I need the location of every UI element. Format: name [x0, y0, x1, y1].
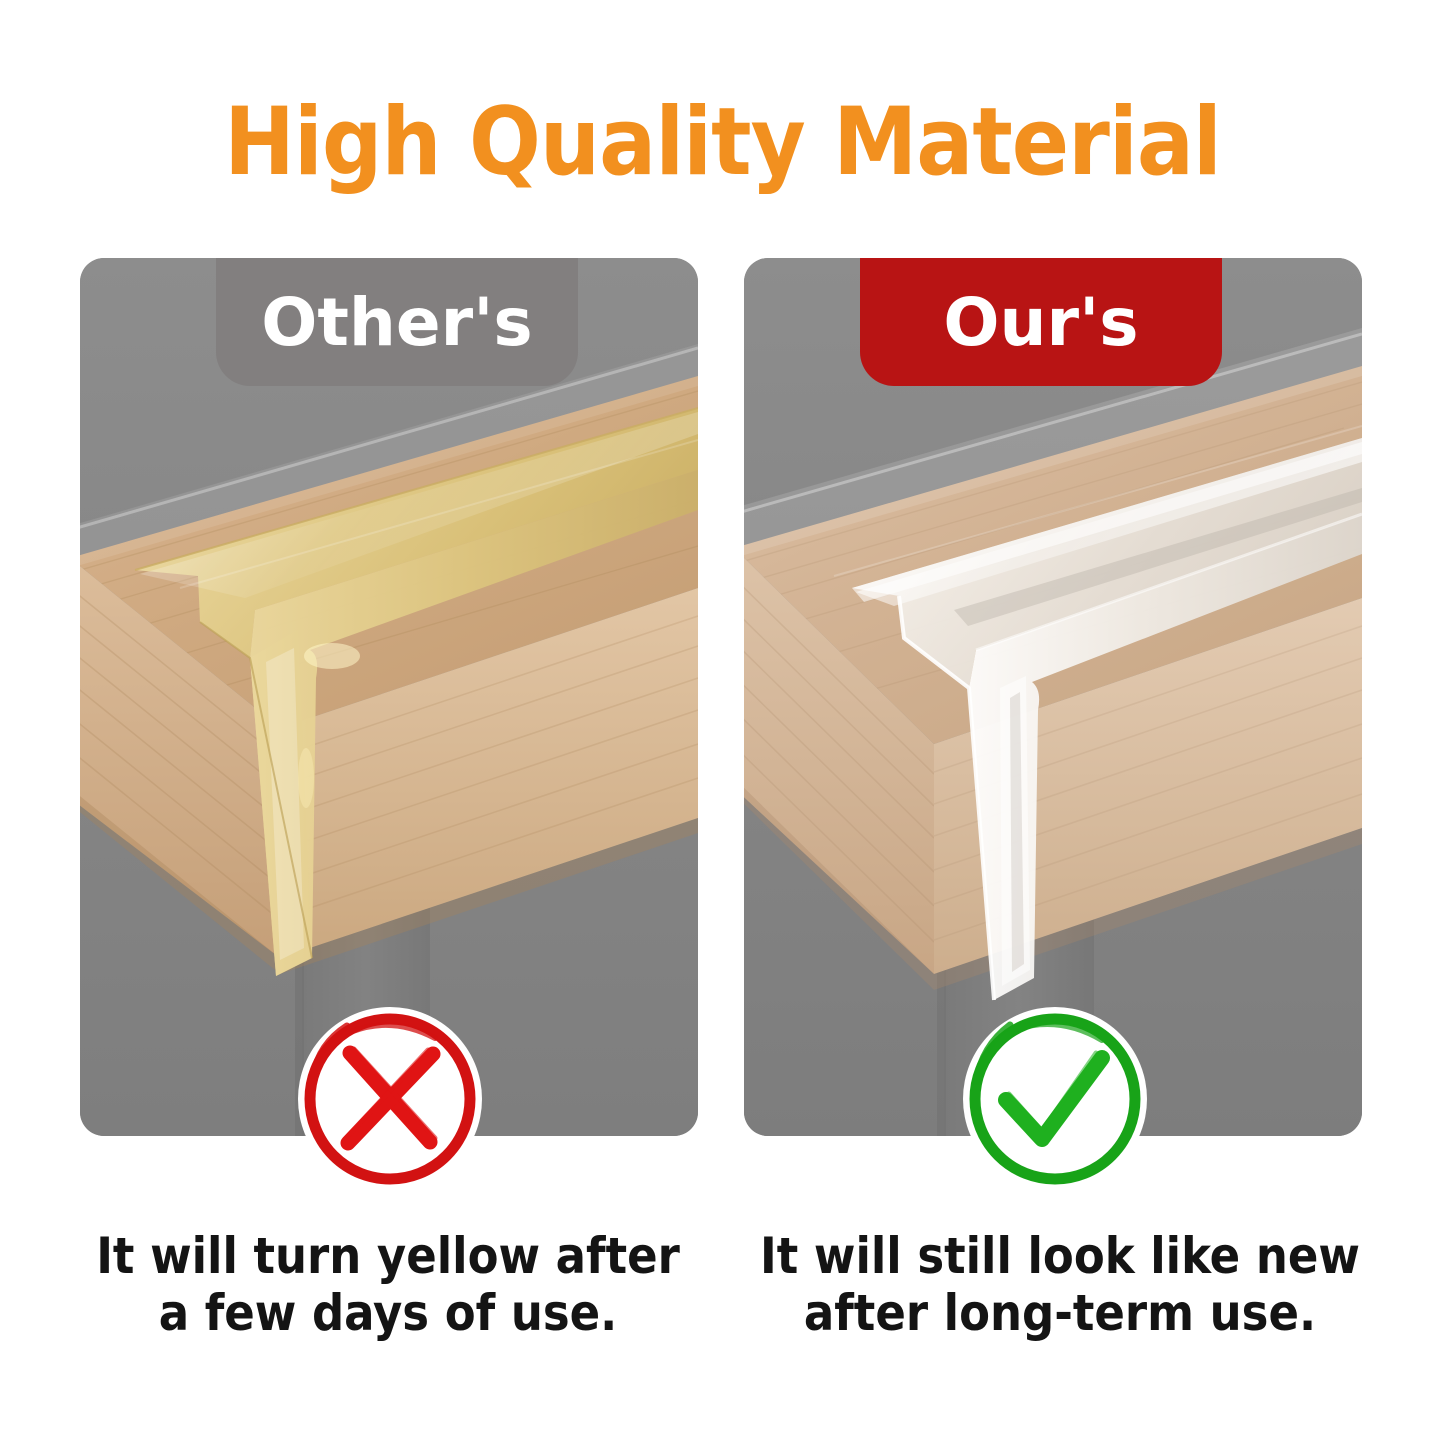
caption-other-line2: a few days of use. [68, 1285, 708, 1342]
comparison-panel-ours: Our's [744, 258, 1362, 1136]
badge-others-label: Other's [261, 284, 532, 361]
badge-ours-label: Our's [943, 284, 1138, 361]
caption-other-line1: It will turn yellow after [96, 1227, 680, 1285]
badge-ours: Our's [860, 258, 1222, 386]
photo-ours-clear-edge-guard [744, 258, 1362, 1136]
check-mark-icon [962, 1006, 1148, 1192]
caption-ours-line2: after long-term use. [740, 1285, 1380, 1342]
x-mark-icon [297, 1006, 483, 1192]
comparison-panel-other: Other's [80, 258, 698, 1136]
badge-others: Other's [216, 258, 578, 386]
caption-ours-line1: It will still look like new [760, 1227, 1360, 1285]
caption-ours: It will still look like new after long-t… [740, 1228, 1380, 1341]
caption-other: It will turn yellow after a few days of … [68, 1228, 708, 1341]
product-comparison-page: High Quality Material [0, 0, 1445, 1445]
page-title: High Quality Material [0, 96, 1445, 190]
photo-other-yellowed-edge-guard [80, 258, 698, 1136]
